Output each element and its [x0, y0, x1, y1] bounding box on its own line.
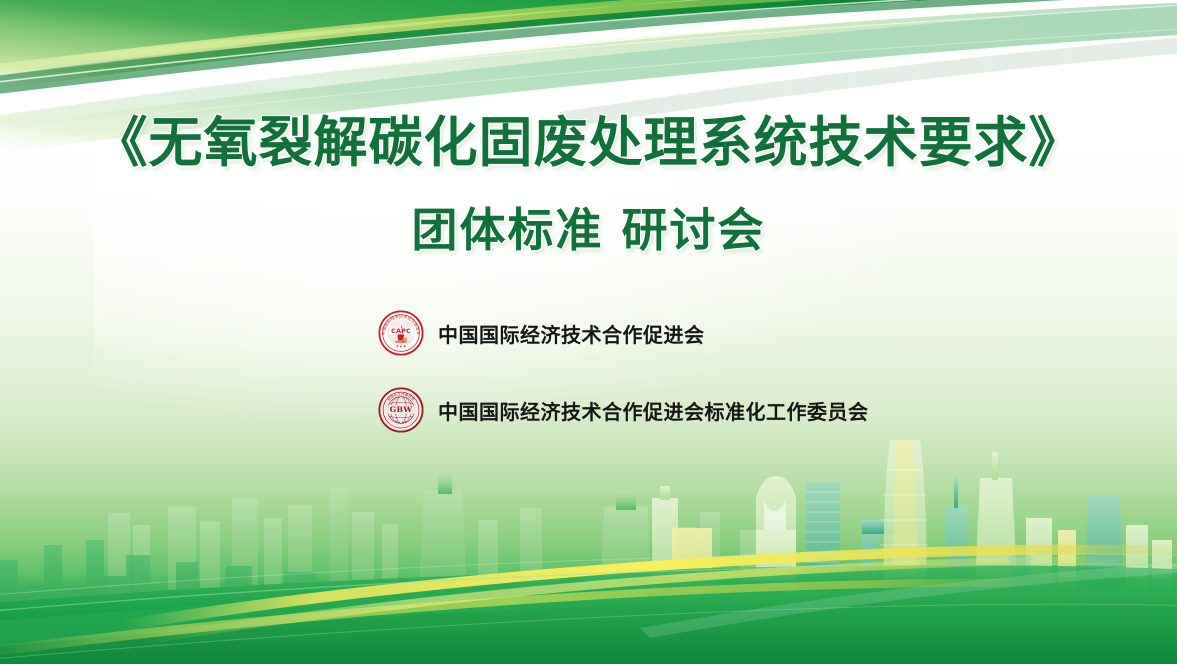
organization-name-capc: 中国国际经济技术合作促进会	[438, 319, 705, 348]
page-subtitle: 团体标准 研讨会	[0, 203, 1177, 258]
svg-text:GBW: GBW	[390, 405, 413, 414]
svg-text:CAPC: CAPC	[391, 327, 411, 335]
organization-name-gbw: 中国国际经济技术合作促进会标准化工作委员会	[438, 396, 869, 425]
page-title: 《无氧裂解碳化固废处理系统技术要求》	[0, 112, 1177, 174]
capc-seal-icon: 中国国际经济技术合作促进会 ★ ★ ★ CAPC	[378, 310, 424, 356]
organization-row-capc: 中国国际经济技术合作促进会 ★ ★ ★ CAPC 中国国际经济技术合作促进会	[378, 310, 705, 356]
gbw-seal-icon: 标准化工作委员会 ★ ★ ★ ★ GBW	[378, 387, 424, 433]
organization-row-gbw: 标准化工作委员会 ★ ★ ★ ★ GBW 中国国际经济技术合作促进会标准化工作委…	[378, 387, 869, 433]
svg-text:★ ★ ★: ★ ★ ★	[395, 344, 406, 349]
title-slide: 《无氧裂解碳化固废处理系统技术要求》 团体标准 研讨会 中国国际经济技术合作促进…	[0, 0, 1177, 664]
slide-content: 《无氧裂解碳化固废处理系统技术要求》 团体标准 研讨会 中国国际经济技术合作促进…	[0, 0, 1177, 664]
